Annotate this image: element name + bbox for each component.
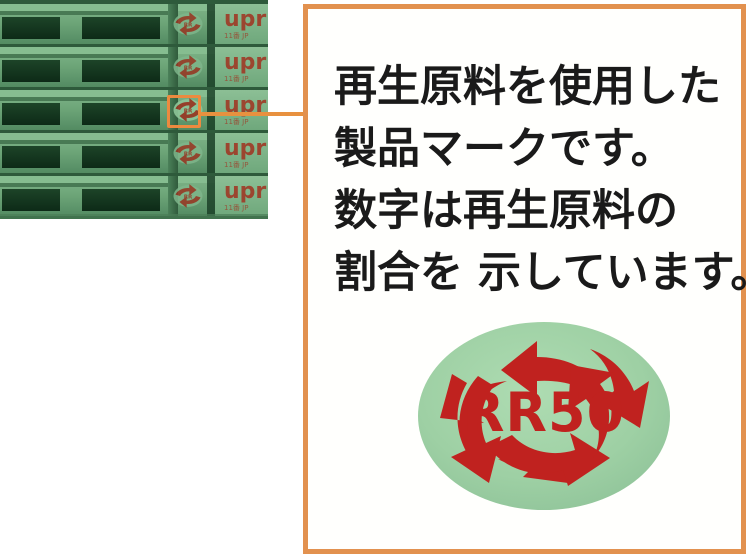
callout-line-1: 再生原料を使用した bbox=[334, 56, 734, 118]
callout-text-block: 再生原料を使用した 製品マークです。 数字は再生原料の 割合を 示しています。 bbox=[334, 56, 734, 304]
recycled-mark-highlight-box bbox=[167, 95, 201, 128]
svg-text:upr: upr bbox=[224, 50, 266, 75]
svg-text:upr: upr bbox=[224, 179, 266, 204]
pallet-stack-illustration: RR upr 11番 JP RR bbox=[0, 0, 268, 219]
callout-connector-line bbox=[199, 112, 308, 116]
logo-label: RR50 bbox=[463, 381, 625, 444]
product-photo: RR upr 11番 JP RR bbox=[0, 0, 268, 219]
svg-text:11番 JP: 11番 JP bbox=[224, 118, 248, 126]
callout-line-2: 製品マークです。 bbox=[334, 118, 734, 180]
svg-text:RR: RR bbox=[184, 194, 193, 200]
rr50-recycled-mark: RR50 bbox=[418, 321, 671, 511]
svg-text:RR: RR bbox=[184, 65, 193, 71]
svg-text:11番 JP: 11番 JP bbox=[224, 75, 248, 83]
rr50-logo-svg: RR50 bbox=[418, 321, 671, 511]
svg-text:11番 JP: 11番 JP bbox=[224, 32, 248, 40]
callout-line-4: 割合を 示しています。 bbox=[334, 242, 734, 304]
svg-text:11番 JP: 11番 JP bbox=[224, 204, 248, 212]
svg-text:11番 JP: 11番 JP bbox=[224, 161, 248, 169]
callout-line-3: 数字は再生原料の bbox=[334, 180, 734, 242]
svg-text:RR: RR bbox=[184, 151, 193, 157]
svg-text:upr: upr bbox=[224, 7, 266, 32]
svg-text:upr: upr bbox=[224, 136, 266, 161]
svg-text:RR: RR bbox=[184, 22, 193, 28]
